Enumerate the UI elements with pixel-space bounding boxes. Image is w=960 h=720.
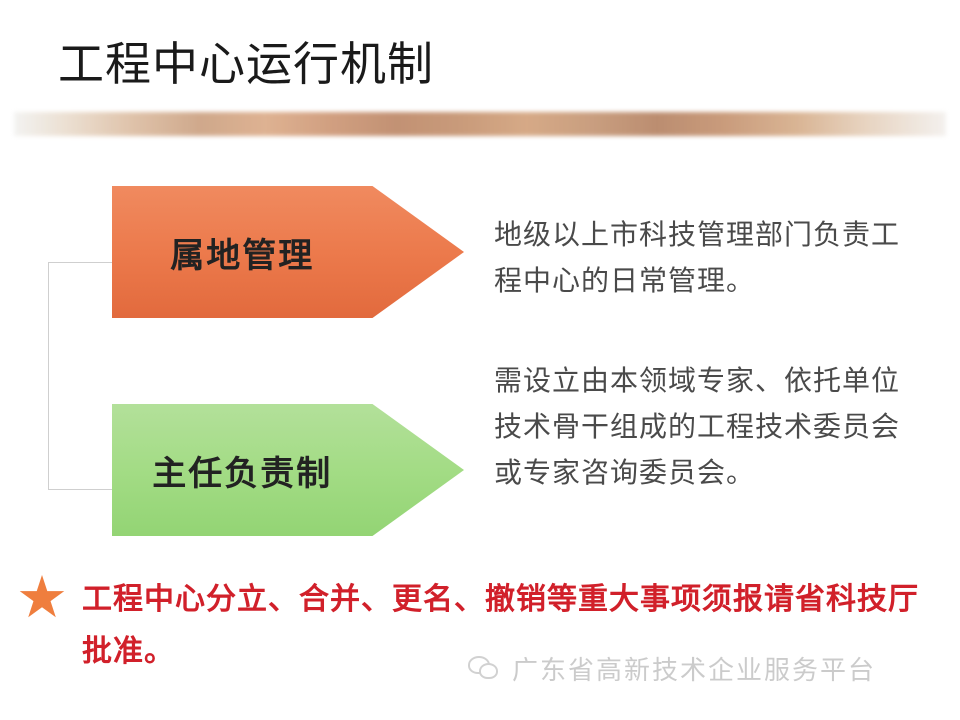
arrow-label-1: 属地管理 <box>112 228 372 277</box>
grouping-bracket <box>48 262 118 490</box>
title-divider <box>14 112 946 136</box>
wechat-icon <box>468 656 500 682</box>
slide: 工程中心运行机制 属地管理 主任负责制 地级以上市科技管理部门负责工程中心的日常… <box>0 0 960 720</box>
arrow-item-1: 属地管理 <box>112 186 464 318</box>
description-2: 需设立由本领域专家、依托单位技术骨干组成的工程技术委员会或专家咨询委员会。 <box>494 358 924 496</box>
arrow-item-2: 主任负责制 <box>112 404 464 536</box>
star-icon: ★ <box>14 570 70 626</box>
page-title: 工程中心运行机制 <box>58 28 434 94</box>
description-1: 地级以上市科技管理部门负责工程中心的日常管理。 <box>494 212 924 304</box>
watermark: 广东省高新技术企业服务平台 <box>468 650 876 687</box>
watermark-label: 广东省高新技术企业服务平台 <box>512 650 876 687</box>
arrow-label-2: 主任负责制 <box>112 446 372 495</box>
